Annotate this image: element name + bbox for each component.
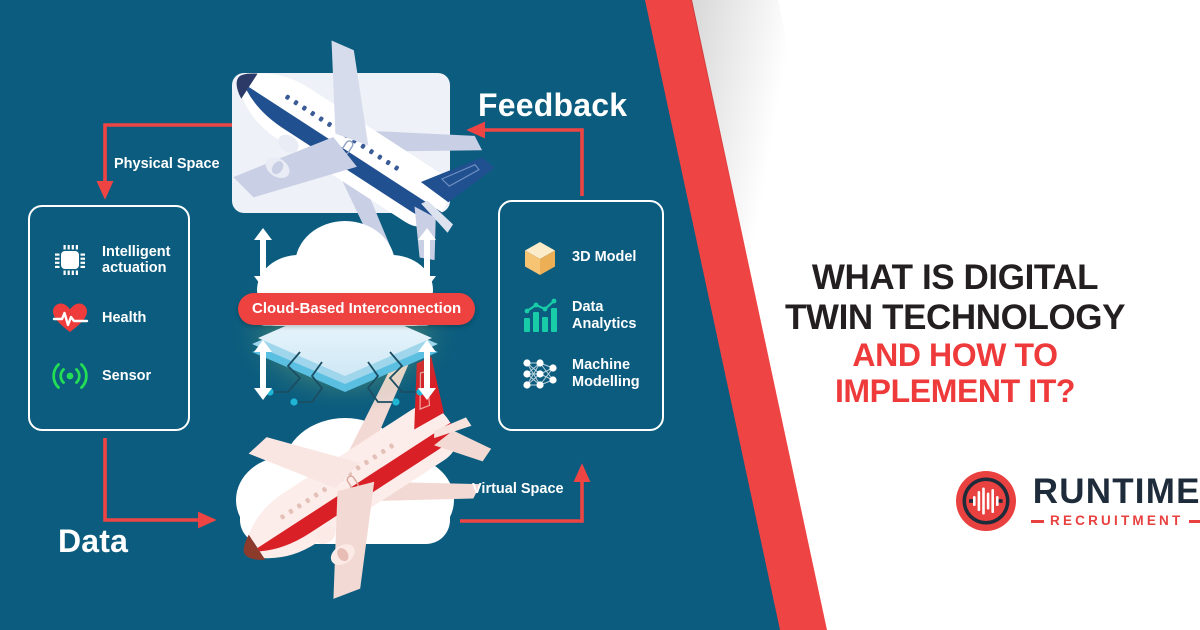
physical-space-panel: Intelligent actuation Health — [28, 205, 190, 431]
label-virtual-space: Virtual Space — [472, 481, 564, 497]
feature-health: Health — [42, 298, 176, 338]
chip-icon — [50, 240, 90, 280]
virtual-space-panel: 3D Model — [498, 200, 664, 431]
logo-name: RUNTIME — [1033, 474, 1200, 509]
title-line-4: IMPLEMENT IT? — [720, 373, 1190, 409]
waveform-circle-icon — [955, 470, 1017, 532]
logo-dash-right — [1189, 520, 1200, 523]
neural-network-icon — [520, 354, 560, 394]
bar-chart-trend-icon — [520, 296, 560, 336]
feature-label: Sensor — [102, 368, 151, 384]
feature-intelligent-actuation: Intelligent actuation — [42, 240, 176, 280]
feature-label: Health — [102, 310, 146, 326]
feature-3d-model: 3D Model — [512, 238, 650, 278]
feature-data-analytics: Data Analytics — [512, 296, 650, 336]
title-line-3: AND HOW TO — [720, 337, 1190, 373]
logo-wordmark: RUNTIME RECRUITMENT — [1031, 474, 1200, 528]
cloud-interconnection-pill: Cloud-Based Interconnection — [238, 293, 475, 325]
label-feedback: Feedback — [478, 87, 627, 124]
label-physical-space: Physical Space — [114, 156, 220, 172]
cube-3d-icon — [520, 238, 560, 278]
feature-label: Data Analytics — [572, 299, 650, 331]
infographic-canvas: Cloud-Based Interconnection — [0, 0, 1200, 630]
feature-label: Machine Modelling — [572, 357, 650, 389]
label-data: Data — [58, 523, 128, 560]
sensor-signal-icon — [50, 356, 90, 396]
logo-subtitle: RECRUITMENT — [1050, 514, 1183, 528]
title-pane: WHAT IS DIGITAL TWIN TECHNOLOGY AND HOW … — [700, 0, 1200, 630]
title-line-1: WHAT IS DIGITAL — [720, 258, 1190, 298]
feature-label: Intelligent actuation — [102, 244, 176, 276]
logo-subtitle-row: RECRUITMENT — [1031, 514, 1200, 528]
logo-dash-left — [1031, 520, 1044, 523]
digital-twin-diagram: Cloud-Based Interconnection — [0, 0, 700, 630]
page-title: WHAT IS DIGITAL TWIN TECHNOLOGY AND HOW … — [720, 258, 1190, 409]
feature-sensor: Sensor — [42, 356, 176, 396]
heart-pulse-icon — [50, 298, 90, 338]
feature-label: 3D Model — [572, 249, 636, 265]
brand-logo: RUNTIME RECRUITMENT — [955, 470, 1200, 532]
feature-machine-modelling: Machine Modelling — [512, 354, 650, 394]
title-line-2: TWIN TECHNOLOGY — [720, 298, 1190, 338]
